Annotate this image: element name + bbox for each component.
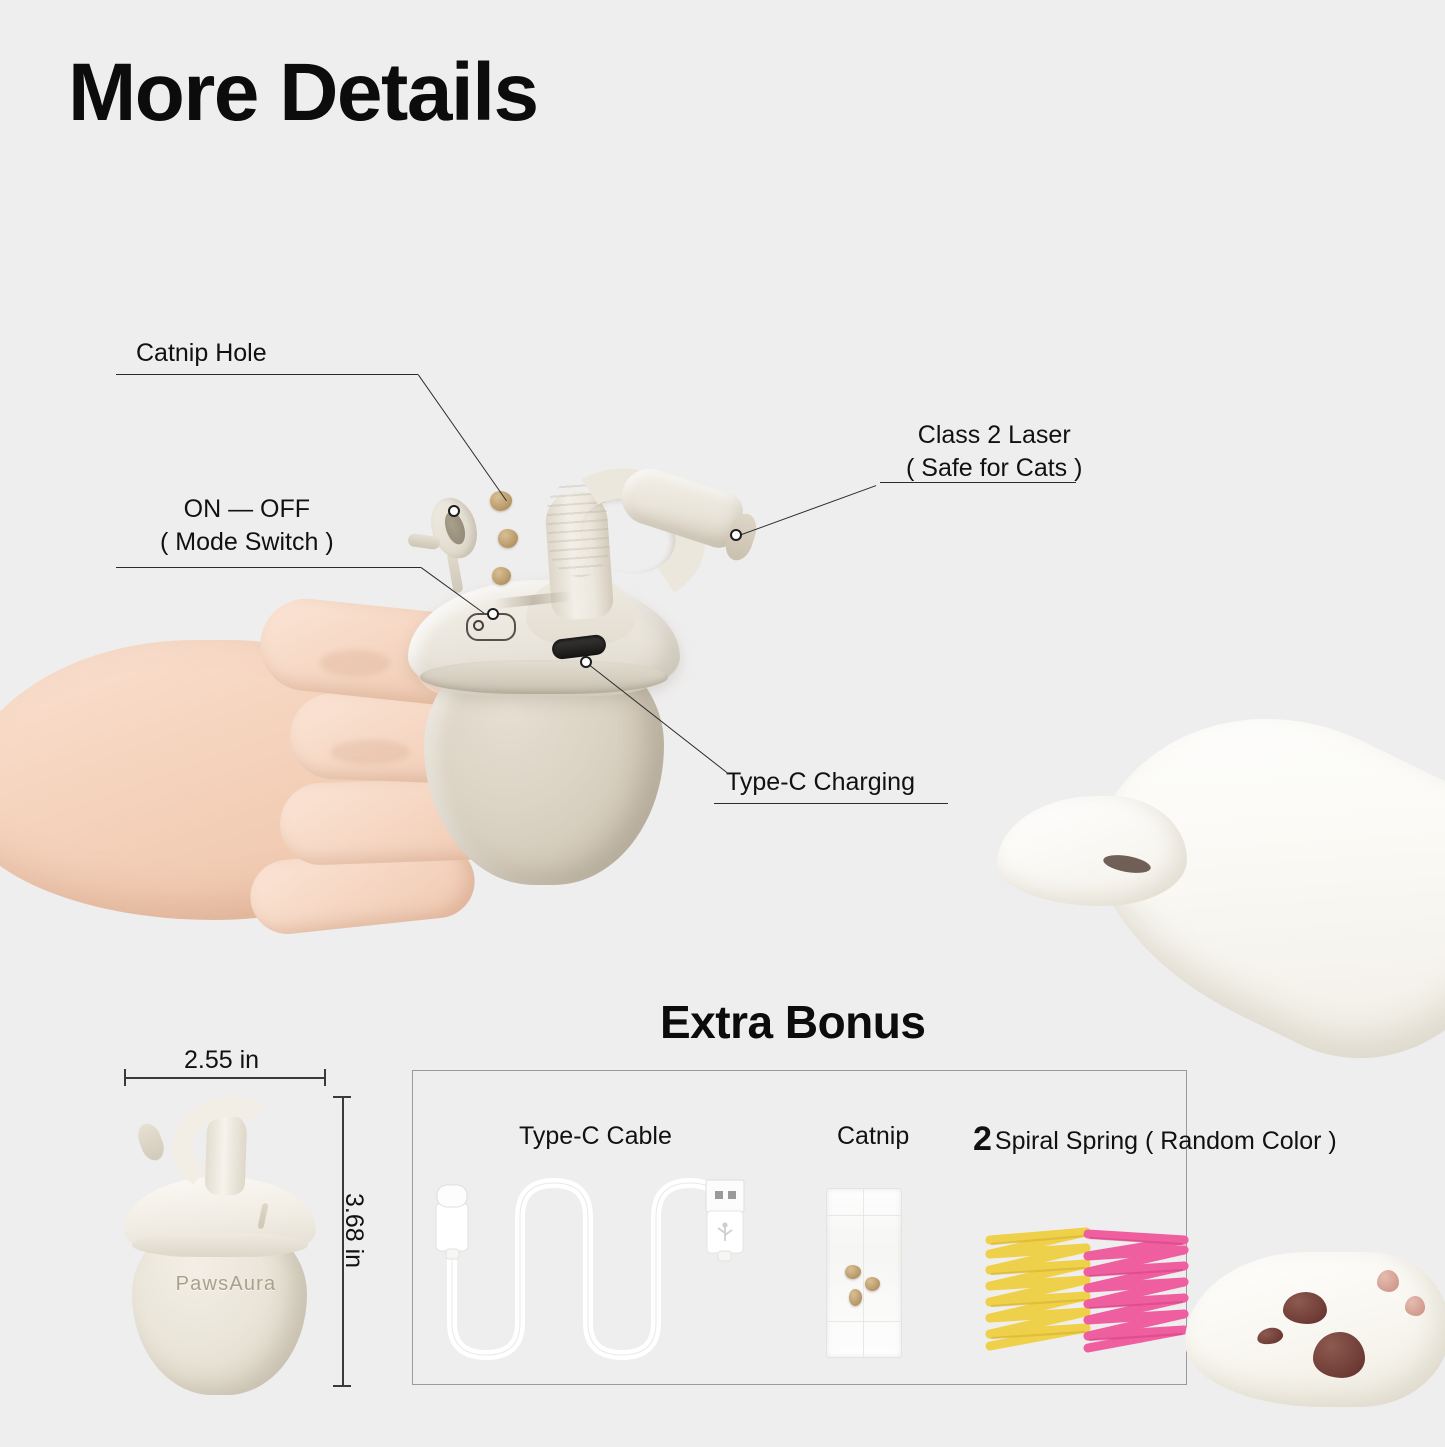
bonus-label-catnip: Catnip <box>837 1120 909 1153</box>
catnip-sachet <box>826 1188 902 1358</box>
width-dimension-label: 2.55 in <box>184 1046 259 1075</box>
cat-paw-lower <box>1185 1232 1445 1447</box>
callout-laser-underline <box>880 482 1076 483</box>
cat-paw-bean <box>1313 1332 1365 1378</box>
width-dimension-tick-left <box>124 1069 126 1086</box>
product-dimension-view: PawsAura <box>110 1085 310 1385</box>
height-dimension-label: 3.68 in <box>339 1193 368 1268</box>
bonus-label-spring: 2Spiral Spring ( Random Color ) <box>973 1117 1337 1162</box>
bonus-label-catnip-text: Catnip <box>837 1122 909 1150</box>
callout-mode-switch: ON — OFF ( Mode Switch ) <box>160 493 334 558</box>
callout-type-c-line1: Type-C Charging <box>726 768 915 796</box>
sachet-seam <box>863 1189 864 1357</box>
callout-laser-line2: ( Safe for Cats ) <box>906 452 1082 485</box>
callout-type-c-anchor <box>580 656 592 668</box>
cat-paw-toe-pad <box>1377 1270 1399 1292</box>
sachet-seam <box>827 1215 901 1216</box>
callout-laser-line1: Class 2 Laser <box>918 421 1071 449</box>
callout-type-c: Type-C Charging <box>726 766 915 799</box>
mode-switch-indicator <box>473 620 484 631</box>
width-dimension-tick-right <box>324 1069 326 1086</box>
bonus-label-cable: Type-C Cable <box>519 1120 672 1153</box>
callout-mode-switch-anchor <box>487 608 499 620</box>
product-brand-logo: PawsAura <box>156 1273 296 1296</box>
callout-laser-anchor <box>730 529 742 541</box>
catnip-pellet-icon <box>865 1277 880 1291</box>
height-dimension-tick-top <box>333 1096 351 1098</box>
catnip-pellet-icon <box>849 1289 862 1306</box>
callout-catnip-hole: Catnip Hole <box>136 337 267 370</box>
bonus-spring-count: 2 <box>973 1120 992 1158</box>
callout-laser: Class 2 Laser ( Safe for Cats ) <box>906 419 1082 484</box>
cat-paw-lower-body <box>1185 1252 1445 1407</box>
sachet-seam <box>827 1321 901 1322</box>
dim-device-cap-ring <box>132 1233 308 1257</box>
callout-catnip-hole-underline <box>116 374 418 375</box>
cat-paw-toe-pad <box>1405 1296 1425 1316</box>
width-dimension-line <box>124 1077 326 1079</box>
page-title: More Details <box>68 52 538 134</box>
callout-mode-switch-line1: ON — OFF <box>184 495 310 523</box>
dim-laser-emitter-tip <box>134 1120 168 1163</box>
cat-paw-toe <box>997 796 1187 906</box>
bonus-label-spring-text: Spiral Spring <box>995 1127 1138 1155</box>
usb-c-plug-icon <box>436 1185 468 1259</box>
catnip-pellet-icon <box>845 1265 861 1279</box>
catnip-pellet-icon <box>498 529 518 548</box>
cat-paw-upper <box>975 690 1445 1110</box>
usb-a-plug-icon <box>706 1180 744 1261</box>
product-device <box>398 455 778 915</box>
device-cap-ring <box>420 660 668 694</box>
hand-crease <box>320 650 390 676</box>
callout-catnip-hole-anchor <box>448 505 460 517</box>
bonus-label-cable-text: Type-C Cable <box>519 1122 672 1150</box>
callout-mode-switch-line2: ( Mode Switch ) <box>160 526 334 559</box>
infographic-page: More Details <box>0 0 1445 1445</box>
bonus-label-spring-sub: ( Random Color ) <box>1145 1127 1337 1155</box>
cat-paw-bean <box>1283 1292 1327 1324</box>
callout-mode-switch-underline <box>116 567 421 568</box>
bonus-section-title: Extra Bonus <box>660 995 925 1049</box>
usb-cable-illustration <box>430 1155 770 1370</box>
spiral-spring-pink <box>1076 1218 1196 1358</box>
callout-type-c-underline <box>714 803 948 804</box>
callout-catnip-hole-line1: Catnip Hole <box>136 339 267 367</box>
height-dimension-tick-bottom <box>333 1385 351 1387</box>
